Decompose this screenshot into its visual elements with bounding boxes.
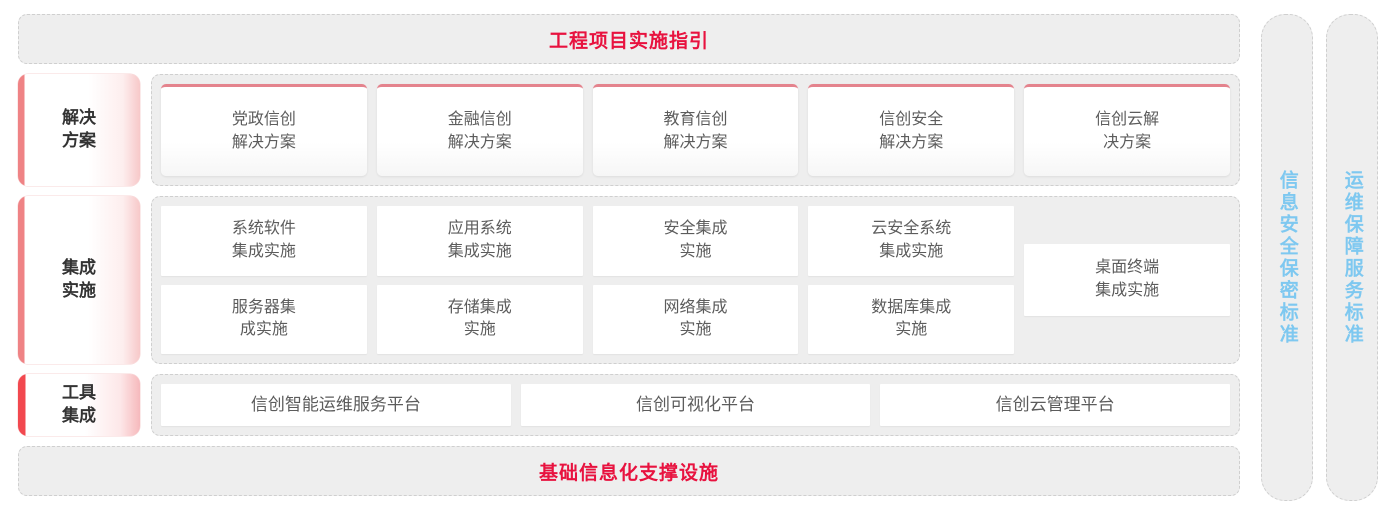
integration-card[interactable]: 数据库集成 实施 [808, 285, 1014, 355]
solution-card[interactable]: 党政信创 解决方案 [161, 84, 367, 176]
implementation-guide-diagram: 工程项目实施指引 解决 方案 党政信创 解决方案 金融信创 解决方案 教育信创 … [0, 0, 1390, 515]
solution-card[interactable]: 教育信创 解决方案 [593, 84, 799, 176]
section-integration: 集成 实施 系统软件 集成实施 服务器集 成实施 应用系统 集成实施 [18, 196, 1240, 364]
solution-card-label: 教育信创 解决方案 [663, 109, 727, 154]
tools-panel: 信创智能运维服务平台 信创可视化平台 信创云管理平台 [151, 374, 1240, 436]
header-banner: 工程项目实施指引 [18, 14, 1240, 64]
integration-card[interactable]: 存储集成 实施 [377, 285, 583, 355]
section-label-integration: 集成 实施 [18, 196, 140, 364]
section-label-tools-text: 工具 集成 [62, 382, 96, 428]
tool-card-label: 信创可视化平台 [636, 393, 755, 417]
integration-card[interactable]: 桌面终端 集成实施 [1024, 244, 1230, 316]
integration-card-label: 云安全系统 集成实施 [871, 218, 951, 263]
tool-card[interactable]: 信创智能运维服务平台 [161, 384, 511, 426]
integration-card-label: 存储集成 实施 [448, 297, 512, 342]
integration-column: 系统软件 集成实施 服务器集 成实施 [161, 206, 367, 354]
solution-card-label: 金融信创 解决方案 [448, 109, 512, 154]
section-solutions: 解决 方案 党政信创 解决方案 金融信创 解决方案 教育信创 解决方案 信创安全… [18, 74, 1240, 186]
page-title: 工程项目实施指引 [549, 26, 709, 53]
solutions-panel: 党政信创 解决方案 金融信创 解决方案 教育信创 解决方案 信创安全 解决方案 … [151, 74, 1240, 186]
section-tools: 工具 集成 信创智能运维服务平台 信创可视化平台 信创云管理平台 [18, 374, 1240, 436]
integration-panel: 系统软件 集成实施 服务器集 成实施 应用系统 集成实施 存储集成 实施 [151, 196, 1240, 364]
side-panel-ops-standard[interactable]: 运维保障服务标准 [1326, 14, 1378, 501]
solution-card-label: 信创安全 解决方案 [879, 109, 943, 154]
tool-card[interactable]: 信创可视化平台 [521, 384, 871, 426]
section-label-tools: 工具 集成 [18, 374, 140, 436]
integration-card[interactable]: 服务器集 成实施 [161, 285, 367, 355]
solution-card[interactable]: 信创安全 解决方案 [808, 84, 1014, 176]
solution-card-label: 党政信创 解决方案 [232, 109, 296, 154]
integration-card[interactable]: 安全集成 实施 [593, 206, 799, 276]
integration-card[interactable]: 应用系统 集成实施 [377, 206, 583, 276]
integration-card[interactable]: 云安全系统 集成实施 [808, 206, 1014, 276]
main-column: 工程项目实施指引 解决 方案 党政信创 解决方案 金融信创 解决方案 教育信创 … [18, 14, 1240, 501]
section-label-solutions: 解决 方案 [18, 74, 140, 186]
integration-column: 桌面终端 集成实施 [1024, 206, 1230, 354]
integration-card-label: 服务器集 成实施 [232, 297, 296, 342]
integration-card[interactable]: 网络集成 实施 [593, 285, 799, 355]
integration-column: 安全集成 实施 网络集成 实施 [593, 206, 799, 354]
side-panel-ops-standard-label: 运维保障服务标准 [1338, 170, 1366, 346]
tool-card[interactable]: 信创云管理平台 [880, 384, 1230, 426]
integration-card-label: 安全集成 实施 [663, 218, 727, 263]
section-label-integration-text: 集成 实施 [62, 257, 96, 303]
foundation-title: 基础信息化支撑设施 [539, 458, 719, 485]
solution-card[interactable]: 信创云解 决方案 [1024, 84, 1230, 176]
side-panel-security-standard[interactable]: 信息安全保密标准 [1261, 14, 1313, 501]
integration-card-label: 应用系统 集成实施 [448, 218, 512, 263]
solution-card-label: 信创云解 决方案 [1095, 109, 1159, 154]
integration-card-label: 网络集成 实施 [663, 297, 727, 342]
solution-card[interactable]: 金融信创 解决方案 [377, 84, 583, 176]
integration-card-label: 数据库集成 实施 [871, 297, 951, 342]
integration-card-label: 系统软件 集成实施 [232, 218, 296, 263]
integration-card[interactable]: 系统软件 集成实施 [161, 206, 367, 276]
tool-card-label: 信创智能运维服务平台 [251, 393, 421, 417]
integration-column: 应用系统 集成实施 存储集成 实施 [377, 206, 583, 354]
side-standards-column: 信息安全保密标准 运维保障服务标准 [1240, 14, 1378, 501]
section-label-solutions-text: 解决 方案 [62, 107, 96, 153]
integration-card-label: 桌面终端 集成实施 [1095, 257, 1159, 302]
side-panel-security-standard-label: 信息安全保密标准 [1273, 170, 1301, 346]
footer-banner: 基础信息化支撑设施 [18, 446, 1240, 496]
tool-card-label: 信创云管理平台 [996, 393, 1115, 417]
integration-column: 云安全系统 集成实施 数据库集成 实施 [808, 206, 1014, 354]
